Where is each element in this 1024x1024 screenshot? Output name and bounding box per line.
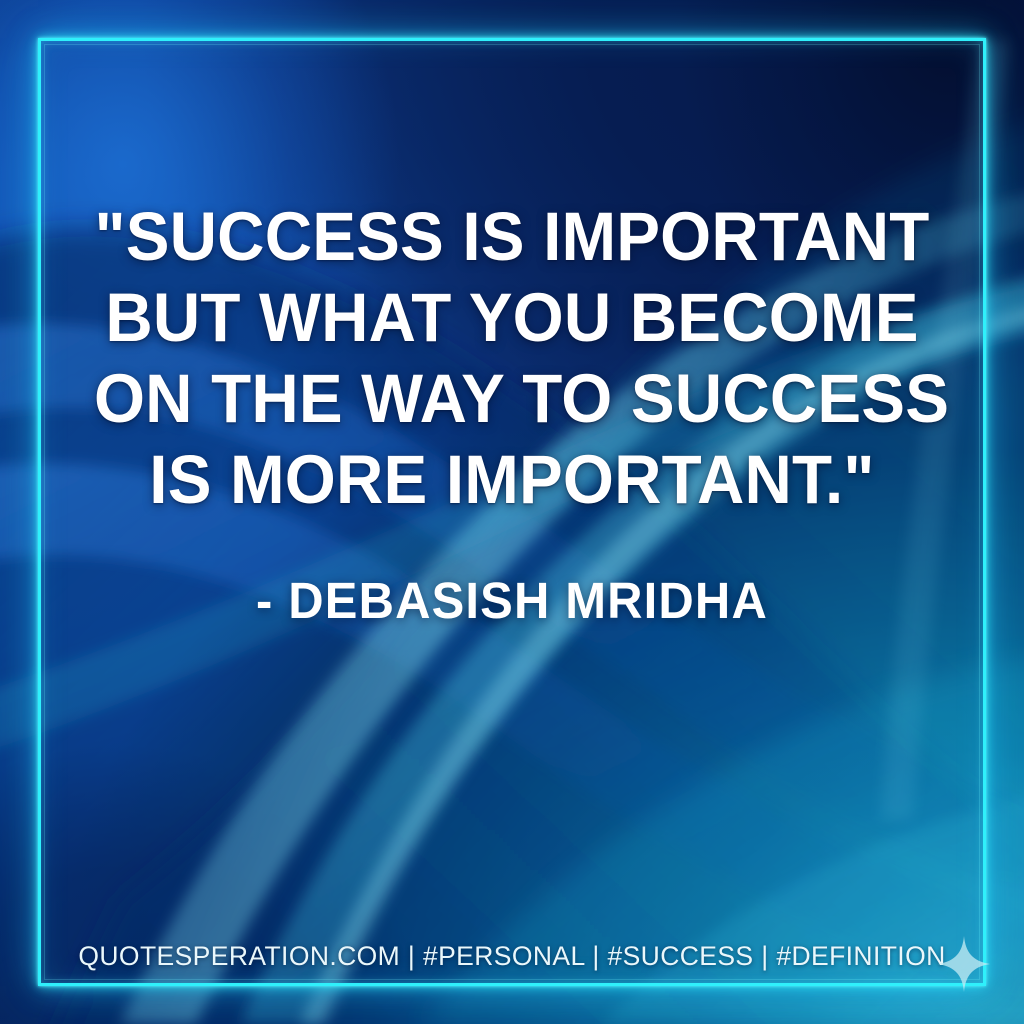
- quote-author: - DEBASISH MRIDHA: [90, 520, 935, 630]
- quote-line-4: IS MORE IMPORTANT.": [94, 439, 930, 520]
- quote-line-1: "SUCCESS IS IMPORTANT: [94, 196, 930, 277]
- content-area: "SUCCESS IS IMPORTANT BUT WHAT YOU BECOM…: [0, 0, 1024, 1024]
- quote-line-2: BUT WHAT YOU BECOME: [94, 277, 930, 358]
- quote-card: "SUCCESS IS IMPORTANT BUT WHAT YOU BECOM…: [0, 0, 1024, 1024]
- quote-line-3: ON THE WAY TO SUCCESS: [94, 358, 930, 439]
- quote-text: "SUCCESS IS IMPORTANT BUT WHAT YOU BECOM…: [94, 0, 930, 520]
